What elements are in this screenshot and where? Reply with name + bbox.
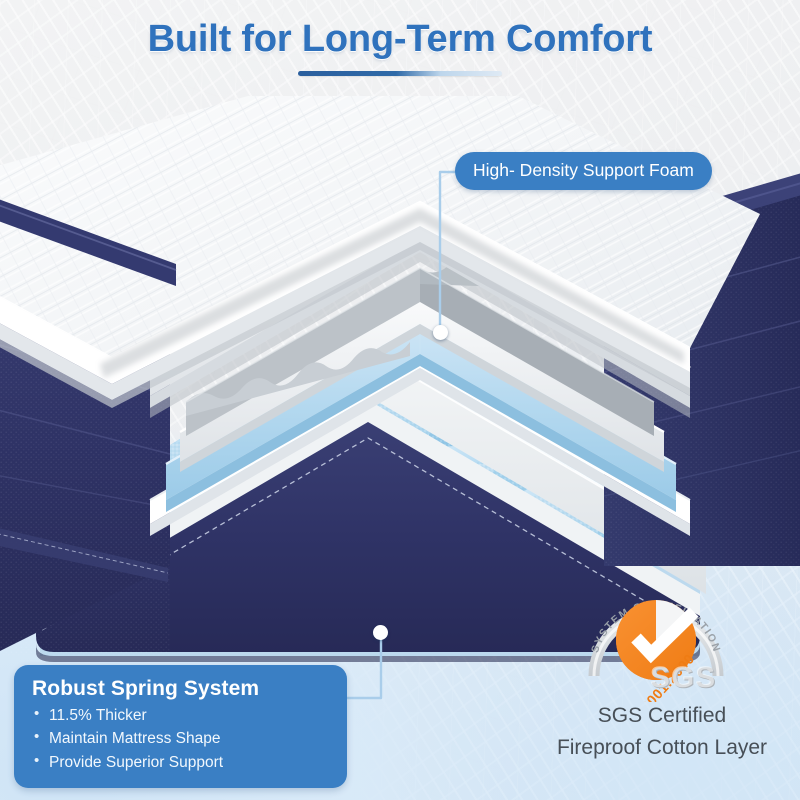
list-item: Maintain Mattress Shape xyxy=(32,727,331,750)
leader-dot-foam xyxy=(433,325,448,340)
list-item: 11.5% Thicker xyxy=(32,704,331,727)
title-underline-rule xyxy=(298,71,502,76)
sgs-certification-caption: SGS Certified Fireproof Cotton Layer xyxy=(528,700,796,764)
sgs-certification-logo: SYSTEM CERTIFICATION ISO 9001:2000 SGS S… xyxy=(578,572,748,702)
callout-robust-spring-system[interactable]: Robust Spring System 11.5% Thicker Maint… xyxy=(14,665,347,788)
callout-spring-bullet-list: 11.5% Thicker Maintain Mattress Shape Pr… xyxy=(32,704,331,774)
sgs-wordmark-highlight: SGS xyxy=(650,661,716,694)
sgs-caption-line-1: SGS Certified xyxy=(528,700,796,732)
list-item: Provide Superior Support xyxy=(32,751,331,774)
page-title: Built for Long-Term Comfort xyxy=(0,18,800,61)
infographic-canvas: Built for Long-Term Comfort xyxy=(0,0,800,800)
sgs-caption-line-2: Fireproof Cotton Layer xyxy=(528,732,796,764)
callout-spring-title: Robust Spring System xyxy=(32,677,331,701)
leader-dot-spring xyxy=(373,625,388,640)
callout-high-density-support-foam[interactable]: High- Density Support Foam xyxy=(455,152,712,190)
